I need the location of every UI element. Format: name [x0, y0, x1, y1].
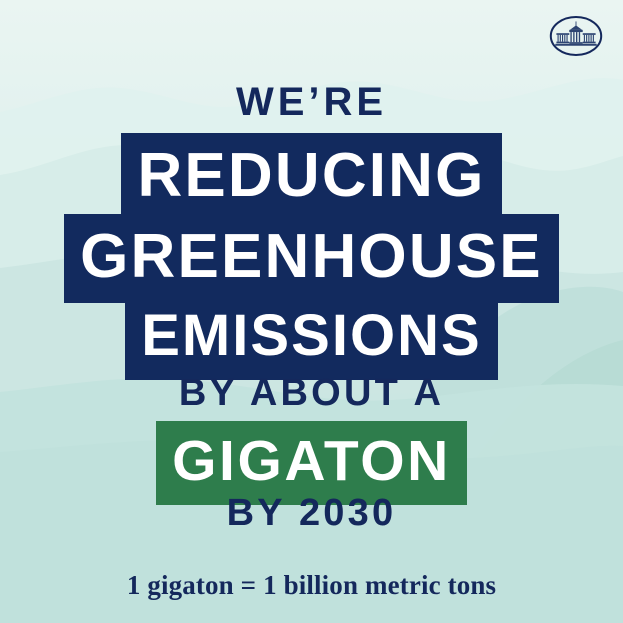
headline-line-emissions: EMISSIONS: [125, 295, 498, 380]
headline-line-reducing: REDUCING: [121, 133, 501, 222]
headline-line-greenhouse: GREENHOUSE: [64, 214, 559, 303]
footnote-text: 1 gigaton = 1 billion metric tons: [127, 570, 496, 601]
headline-stack: WE’RE REDUCING GREENHOUSE EMISSIONS BY A…: [0, 0, 623, 623]
headline-line-were: WE’RE: [236, 82, 387, 122]
climate-emissions-poster: WE’RE REDUCING GREENHOUSE EMISSIONS BY A…: [0, 0, 623, 623]
headline-line-by-2030: BY 2030: [227, 494, 397, 532]
headline-line-by-about-a: BY ABOUT A: [179, 374, 444, 412]
